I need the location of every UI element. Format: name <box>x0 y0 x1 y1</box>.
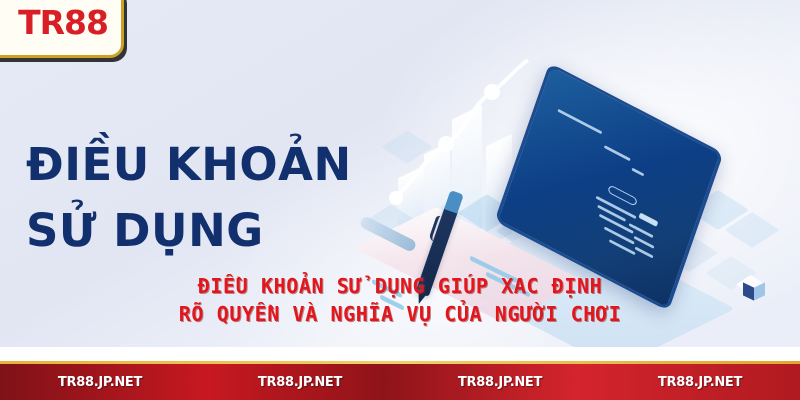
brand-logo-text: TR88 <box>4 3 108 42</box>
page-title-line-1: ĐIỀU KHOẢN <box>26 138 352 191</box>
footer-bar: TR88.JP.NET TR88.JP.NET TR88.JP.NET TR88… <box>0 364 800 400</box>
footer-site-2[interactable]: TR88.JP.NET <box>200 375 400 390</box>
page-title-line-2: SỬ DỤNG <box>26 198 426 264</box>
brand-logo[interactable]: TR88 <box>0 0 124 58</box>
footer-site-4[interactable]: TR88.JP.NET <box>600 375 800 390</box>
subtitle-line-1: ĐIỀU KHOẢN SỬ DỤNG GIÚP XAC ĐỊNH <box>0 272 800 300</box>
subtitle-overlay: ĐIỀU KHOẢN SỬ DỤNG GIÚP XAC ĐỊNH RÕ QUYỀ… <box>0 272 800 329</box>
subtitle-line-2: RÕ QUYỀN VÀ NGHĨA VỤ CỦA NGƯỜI CHƠI <box>0 300 800 328</box>
page-title: ĐIỀU KHOẢN SỬ DỤNG <box>26 132 426 263</box>
footer-site-3[interactable]: TR88.JP.NET <box>400 375 600 390</box>
footer-site-1[interactable]: TR88.JP.NET <box>0 375 200 390</box>
footer-white-gap <box>0 347 800 361</box>
promo-banner: TR88 ĐIỀU KHOẢN SỬ DỤNG ĐIỀU KHOẢN SỬ DỤ… <box>0 0 800 400</box>
